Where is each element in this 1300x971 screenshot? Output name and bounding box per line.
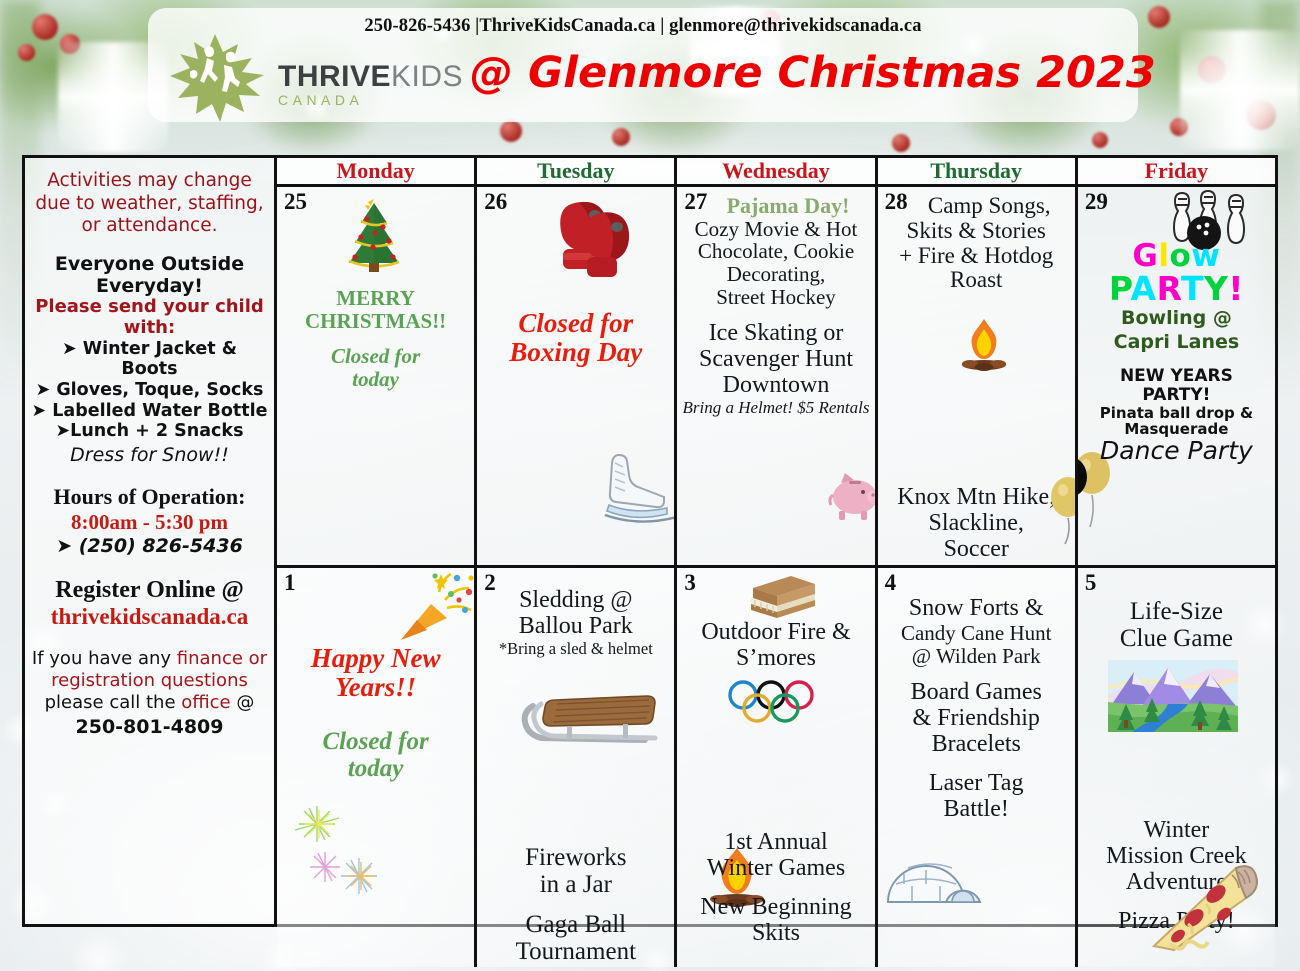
event-line: S’mores: [682, 646, 869, 672]
office-word: office: [181, 692, 230, 713]
balloons-icon: [1046, 473, 1078, 547]
day-content: Glow PARTY! Bowling @ Capri Lanes NEW YE…: [1083, 191, 1270, 464]
party-letter: T: [1181, 269, 1204, 308]
event-line: Sledding @: [482, 588, 669, 614]
day-content: Sledding @ Ballou Park *Bring a sled & h…: [482, 572, 669, 658]
day-content: Pajama Day! Cozy Movie & Hot Chocolate, …: [682, 191, 869, 418]
event-line: Happy New: [282, 644, 469, 673]
calendar-grid: Activities may change due to weather, st…: [22, 155, 1278, 927]
event-note: Bring a Helmet! $5 Rentals: [682, 399, 869, 418]
day-content: Closed for Boxing Day: [482, 191, 669, 367]
event-line: Ballou Park: [482, 614, 669, 640]
event-line: Years!!: [282, 673, 469, 702]
day-number: 28: [885, 189, 908, 215]
day-cell-3[interactable]: 3 Outdoor Fire & S’mores: [677, 568, 877, 967]
new-years-party-line: PARTY!: [1083, 386, 1270, 405]
day-content: MERRY CHRISTMAS!! Closed for today: [282, 191, 469, 391]
event-line: Decorating,: [682, 263, 869, 286]
hours-phone: ➤ (250) 826-5436: [31, 535, 268, 557]
sparkle-star: [1180, 30, 1300, 150]
event-line: Scavenger Hunt: [682, 347, 869, 373]
event-line: Closed for: [282, 345, 469, 368]
event-line: Knox Mtn Hike,: [883, 485, 1070, 511]
thrivekids-logo: THRIVEKIDS CANADA: [160, 36, 490, 120]
event-line: Outdoor Fire &: [682, 620, 869, 646]
day-cell-29[interactable]: 29 Glow: [1078, 187, 1275, 565]
bowling-line: Bowling @: [1083, 305, 1270, 329]
event-line: 1st Annual: [682, 830, 869, 856]
logo-thrive-text: THRIVE: [278, 60, 391, 93]
day-content-second: Fireworks in a Jar Gaga Ball Tournament: [482, 658, 669, 965]
party-letter: Y: [1204, 269, 1228, 308]
event-line: Snow Forts &: [883, 596, 1070, 622]
day-number: 3: [684, 570, 696, 596]
event-line: today: [282, 755, 469, 782]
event-line: & Friendship: [883, 706, 1070, 732]
party-letter: R: [1157, 269, 1181, 308]
event-line: Candy Cane Hunt: [883, 622, 1070, 645]
dress-for-snow-text: Dress for Snow!!: [31, 442, 268, 466]
event-line: today: [282, 368, 469, 391]
event-line: Ice Skating or: [682, 321, 869, 347]
weekday-header-row: Monday Tuesday Wednesday Thursday Friday: [277, 158, 1275, 187]
logo-canada-text: CANADA: [278, 92, 463, 108]
info-sidebar: Activities may change due to weather, st…: [25, 158, 277, 924]
day-number: 25: [284, 189, 307, 215]
day-cell-4[interactable]: 4 Snow Forts & Candy Cane Hunt @ Wilden …: [878, 568, 1078, 967]
event-line: Gaga Ball: [482, 911, 669, 938]
event-line: Closed for: [482, 309, 669, 338]
event-line: Clue Game: [1083, 625, 1270, 652]
day-number: 27: [684, 189, 707, 215]
register-url[interactable]: thrivekidscanada.ca: [31, 604, 268, 630]
day-content: Outdoor Fire & S’mores: [682, 572, 869, 672]
party-word: PARTY!: [1083, 272, 1270, 305]
day-header-monday: Monday: [277, 158, 477, 184]
register-label: Register Online @: [31, 557, 268, 604]
event-line: + Fire & Hotdog: [883, 244, 1070, 269]
day-cell-5[interactable]: 5 Life-Size Clue Game: [1078, 568, 1275, 967]
dance-party-line: Dance Party: [1083, 438, 1270, 464]
event-line: Soccer: [883, 537, 1070, 563]
finance-word: finance: [177, 648, 243, 669]
day-content: Camp Songs, Skits & Stories + Fire & Hot…: [883, 191, 1070, 293]
week-row-1: 25 MERRY CHRISTMAS!! Closed for: [277, 187, 1275, 568]
day-number: 4: [885, 570, 897, 596]
days-grid: Monday Tuesday Wednesday Thursday Friday…: [277, 158, 1275, 924]
finance-at: @: [231, 692, 255, 713]
event-line: Chocolate, Cookie: [682, 240, 869, 263]
event-line: Battle!: [883, 797, 1070, 823]
theme-label: Pajama Day!: [682, 194, 869, 218]
event-line: Camp Songs,: [883, 194, 1070, 219]
event-line: New Beginning: [682, 895, 869, 921]
event-line: in a Jar: [482, 871, 669, 898]
day-header-friday: Friday: [1078, 158, 1275, 184]
bowling-line: Capri Lanes: [1083, 329, 1270, 353]
day-number: 2: [484, 570, 496, 596]
day-number: 5: [1085, 570, 1097, 596]
activities-note: Activities may change due to weather, st…: [31, 164, 268, 238]
event-line: Fireworks: [482, 844, 669, 871]
fireworks-icon: [283, 796, 393, 906]
maple-leaf-icon: [160, 32, 272, 124]
day-cell-25[interactable]: 25 MERRY CHRISTMAS!! Closed for: [277, 187, 477, 565]
day-header-thursday: Thursday: [878, 158, 1078, 184]
page-title: @ Glenmore Christmas 2023: [470, 48, 1130, 98]
day-header-tuesday: Tuesday: [477, 158, 677, 184]
event-line: Board Games: [883, 680, 1070, 706]
event-note: *Bring a sled & helmet: [482, 640, 669, 658]
day-cell-2[interactable]: 2 Sledding @ Ballou Park *Bring a sled &…: [477, 568, 677, 967]
hours-label: Hours of Operation:: [31, 466, 268, 510]
day-cell-26[interactable]: 26: [477, 187, 677, 565]
event-line: Boxing Day: [482, 338, 669, 367]
day-number: 1: [284, 570, 296, 596]
packing-item: ➤Lunch + 2 Snacks: [31, 421, 268, 442]
event-line: Tournament: [482, 938, 669, 965]
piggy-bank-icon: [827, 467, 877, 523]
event-line: Winter Games: [682, 856, 869, 882]
igloo-icon: [882, 840, 986, 912]
event-line: Street Hockey: [682, 286, 869, 309]
ice-skates-icon: [593, 449, 677, 527]
event-line: Laser Tag: [883, 771, 1070, 797]
new-years-party-line: NEW YEARS: [1083, 367, 1270, 386]
glow-word: Glow: [1083, 241, 1270, 272]
day-header-wednesday: Wednesday: [677, 158, 877, 184]
send-with-label: Please send your child with:: [31, 297, 268, 338]
day-content-second: Knox Mtn Hike, Slackline, Soccer: [883, 293, 1070, 563]
event-line: Downtown: [682, 373, 869, 399]
everyone-outside-text: Everyone Outside Everyday!: [31, 238, 268, 298]
finance-text-4: please call the: [45, 692, 182, 713]
office-phone: 250-801-4809: [31, 714, 268, 738]
finance-note: If you have any finance or registration …: [31, 630, 268, 714]
packing-item: ➤ Gloves, Toque, Socks: [31, 380, 268, 401]
party-letter: !: [1228, 269, 1244, 308]
contact-line: 250-826-5436 |ThriveKidsCanada.ca | glen…: [148, 16, 1138, 37]
event-line: Roast: [883, 268, 1070, 293]
day-cell-28[interactable]: 28 Camp Songs, Skits & Stories + Fire & …: [878, 187, 1078, 565]
event-line: @ Wilden Park: [883, 645, 1070, 668]
day-content: Life-Size Clue Game: [1083, 572, 1270, 652]
event-line: Closed for: [282, 728, 469, 755]
event-line: MERRY: [282, 287, 469, 310]
event-line: Cozy Movie & Hot: [682, 218, 869, 241]
event-line: Slackline,: [883, 511, 1070, 537]
packing-item: ➤ Winter Jacket & Boots: [31, 339, 268, 380]
day-content-second: 1st Annual Winter Games New Beginning Sk…: [682, 672, 869, 947]
packing-item: ➤ Labelled Water Bottle: [31, 401, 268, 422]
day-cell-27[interactable]: 27 Pajama Day! Cozy Movie & Hot Chocolat…: [677, 187, 877, 565]
party-letter: A: [1131, 269, 1157, 308]
event-line: Winter: [1083, 818, 1270, 844]
party-letter: P: [1109, 269, 1131, 308]
week-row-2: 1 Happy New Years!! Closed for tod: [277, 568, 1275, 967]
logo-kids-text: KIDS: [391, 60, 463, 93]
event-line: Skits & Stories: [883, 219, 1070, 244]
event-line: Bracelets: [883, 732, 1070, 758]
finance-text-1: If you have any: [32, 648, 177, 669]
pinata-line: Pinata ball drop &: [1083, 405, 1270, 422]
day-content: Happy New Years!! Closed for today: [282, 572, 469, 782]
pizza-slice-icon: [1144, 860, 1264, 952]
day-number: 26: [484, 189, 507, 215]
hours-time: 8:00am - 5:30 pm: [31, 510, 268, 535]
day-content: Snow Forts & Candy Cane Hunt @ Wilden Pa…: [883, 572, 1070, 823]
event-line: Life-Size: [1083, 598, 1270, 625]
event-line: Skits: [682, 921, 869, 947]
day-cell-1[interactable]: 1 Happy New Years!! Closed for tod: [277, 568, 477, 967]
logo-wordmark: THRIVEKIDS CANADA: [278, 60, 463, 108]
event-line: CHRISTMAS!!: [282, 310, 469, 333]
day-number: 29: [1085, 189, 1108, 215]
